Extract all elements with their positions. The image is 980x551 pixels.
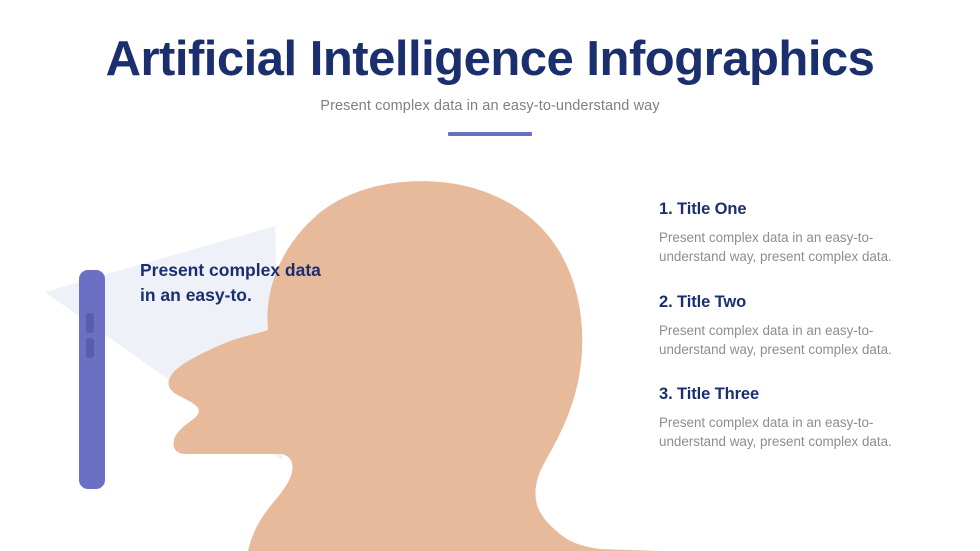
list-item: 1. Title One Present complex data in an … (659, 200, 959, 267)
header: Artificial Intelligence Infographics Pre… (0, 34, 980, 136)
title-divider (448, 132, 532, 136)
artwork-stage (0, 160, 660, 551)
point-title: 3. Title Three (659, 385, 959, 404)
point-body: Present complex data in an easy-to-under… (659, 228, 899, 267)
point-title: 2. Title Two (659, 293, 959, 312)
list-item: 2. Title Two Present complex data in an … (659, 293, 959, 360)
list-item: 3. Title Three Present complex data in a… (659, 385, 959, 452)
point-body: Present complex data in an easy-to-under… (659, 321, 899, 360)
infographic-slide: Artificial Intelligence Infographics Pre… (0, 0, 980, 551)
page-subtitle: Present complex data in an easy-to-under… (0, 98, 980, 114)
points-list: 1. Title One Present complex data in an … (659, 200, 959, 452)
phone-button-upper-icon (86, 313, 94, 333)
artwork-caption: Present complex data in an easy-to. (140, 258, 330, 309)
phone-button-lower-icon (86, 338, 94, 358)
point-body: Present complex data in an easy-to-under… (659, 413, 899, 452)
page-title: Artificial Intelligence Infographics (0, 34, 980, 85)
point-title: 1. Title One (659, 200, 959, 219)
smartphone-side-view-icon (79, 270, 105, 489)
